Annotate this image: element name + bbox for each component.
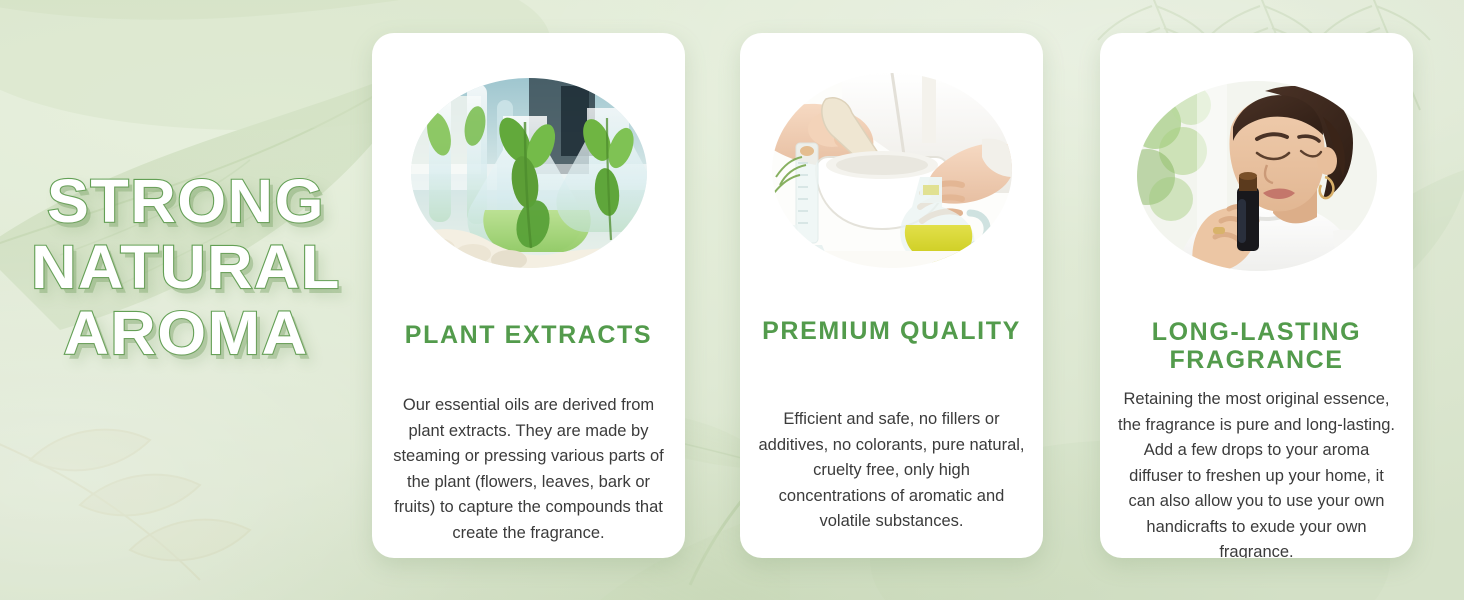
long-lasting-fragrance-photo [1137, 81, 1377, 271]
card-title: PLANT EXTRACTS [384, 321, 673, 349]
plant-extracts-photo [411, 78, 647, 268]
card-body-text: Efficient and safe, no fillers or additi… [758, 407, 1025, 535]
headline-line-3: AROMA [0, 300, 378, 366]
page-title: STRONG NATURAL AROMA [0, 168, 372, 366]
premium-quality-photo [772, 73, 1012, 268]
card-title: PREMIUM QUALITY [752, 317, 1031, 345]
headline-line-1: STRONG [0, 168, 378, 234]
card-body-text: Our essential oils are derived from plan… [390, 393, 667, 546]
card-title: LONG-LASTING FRAGRANCE [1112, 318, 1401, 374]
infographic-banner: STRONG NATURAL AROMA [0, 0, 1464, 600]
feature-card-plant-extracts[interactable]: PLANT EXTRACTS Our essential oils are de… [372, 33, 685, 558]
feature-card-long-lasting-fragrance[interactable]: LONG-LASTING FRAGRANCE Retaining the mos… [1100, 33, 1413, 558]
card-body-text: Retaining the most original essence, the… [1118, 387, 1395, 558]
headline-line-2: NATURAL [0, 234, 378, 300]
feature-card-premium-quality[interactable]: PREMIUM QUALITY Efficient and safe, no f… [740, 33, 1043, 558]
